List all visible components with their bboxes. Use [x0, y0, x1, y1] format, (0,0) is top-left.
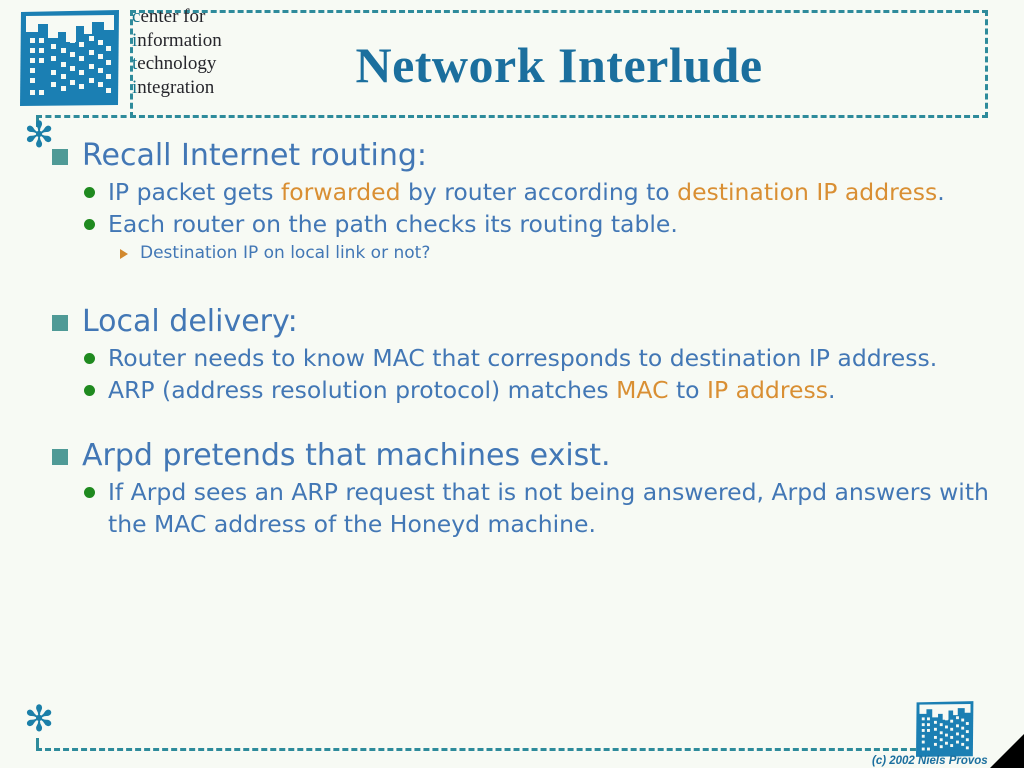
- section-heading: Local delivery:: [44, 302, 994, 342]
- bullet-dot-icon: [84, 187, 95, 198]
- copyright-notice: (c) 2002 Niels Provos: [872, 755, 988, 767]
- content-section: Arpd pretends that machines exist. If Ar…: [44, 436, 994, 540]
- section-heading-label: Local delivery:: [82, 304, 298, 339]
- bullet-triangle-icon: [120, 249, 128, 259]
- org-line-1-rest: enter for: [140, 6, 205, 27]
- sub-list-item: Destination IP on local link or not?: [44, 240, 994, 266]
- slide-canvas: center for information technology integr…: [0, 0, 1024, 768]
- list-item-run: ARP (address resolution protocol) matche…: [108, 376, 616, 404]
- list-item-run: Router needs to know MAC that correspond…: [108, 344, 937, 372]
- asterisk-decoration-icon: ✻: [24, 702, 54, 738]
- page-title: Network Interlude: [130, 36, 988, 94]
- slide-body: Recall Internet routing: IP packet gets …: [44, 136, 994, 540]
- org-line-1: center for: [132, 5, 222, 29]
- section-heading: Arpd pretends that machines exist.: [44, 436, 994, 476]
- bullet-square-icon: [52, 449, 68, 465]
- list-item: If Arpd sees an ARP request that is not …: [44, 476, 994, 540]
- content-section: Local delivery: Router needs to know MAC…: [44, 302, 994, 406]
- bullet-dot-icon: [84, 353, 95, 364]
- list-item-run: .: [937, 178, 944, 206]
- section-heading-label: Recall Internet routing:: [82, 138, 427, 173]
- content-section: Recall Internet routing: IP packet gets …: [44, 136, 994, 266]
- list-item-run: If Arpd sees an ARP request that is not …: [108, 478, 989, 538]
- citi-logo-small: [912, 700, 978, 758]
- bullet-dot-icon: [84, 385, 95, 396]
- list-item-run: by router according to: [401, 178, 678, 206]
- section-heading: Recall Internet routing:: [44, 136, 994, 176]
- bullet-dot-icon: [84, 219, 95, 230]
- citi-logo: [18, 8, 122, 108]
- list-item-run: .: [828, 376, 835, 404]
- footer-dashed-rule-corner: [36, 738, 39, 750]
- list-item-run: Each router on the path checks its routi…: [108, 210, 678, 238]
- list-item-run-highlight: forwarded: [281, 178, 400, 206]
- sub-list-item-label: Destination IP on local link or not?: [140, 243, 430, 263]
- list-item: ARP (address resolution protocol) matche…: [44, 374, 994, 406]
- section-spacer: [44, 266, 994, 302]
- list-item-run-highlight: destination IP address: [677, 178, 937, 206]
- bullet-dot-icon: [84, 487, 95, 498]
- list-item: Router needs to know MAC that correspond…: [44, 342, 994, 374]
- footer-dashed-rule: [36, 748, 952, 751]
- corner-triangle-decoration: [990, 734, 1024, 768]
- section-spacer: [44, 406, 994, 436]
- list-item-run-highlight: IP address: [707, 376, 828, 404]
- list-item: IP packet gets forwarded by router accor…: [44, 176, 994, 208]
- bullet-square-icon: [52, 315, 68, 331]
- list-item-run: to: [669, 376, 708, 404]
- bullet-square-icon: [52, 149, 68, 165]
- list-item: Each router on the path checks its routi…: [44, 208, 994, 240]
- list-item-run: IP packet gets: [108, 178, 281, 206]
- section-heading-label: Arpd pretends that machines exist.: [82, 438, 611, 473]
- list-item-run-highlight: MAC: [616, 376, 668, 404]
